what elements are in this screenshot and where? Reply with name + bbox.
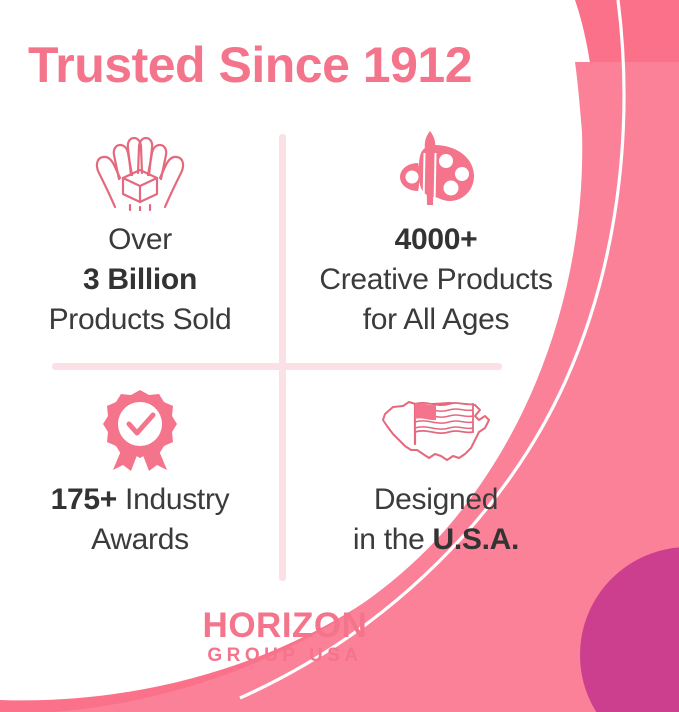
flag-canton — [415, 403, 436, 420]
logo-sub-text: GROUP USA — [0, 643, 570, 669]
magenta-circle — [580, 547, 679, 712]
feature-designed-usa-text: Designed in the U.S.A. — [353, 480, 519, 560]
brand-logo: HORIZON GROUP USA — [0, 608, 570, 669]
feature-products-sold-text: Over 3 Billion Products Sold — [49, 220, 232, 340]
paintbrush-shape — [426, 153, 434, 205]
divider-horizontal — [52, 363, 502, 370]
feature-line-2: Awards — [51, 520, 230, 560]
page-title: Trusted Since 1912 — [28, 36, 472, 94]
white-accent-line — [240, 0, 624, 698]
feature-line-2-rest: in the — [353, 523, 433, 556]
feature-creative-products-text: 4000+ Creative Products for All Ages — [319, 220, 552, 340]
feature-line-1: 175+ Industry — [51, 480, 230, 520]
feature-line-3: for All Ages — [319, 300, 552, 340]
feature-line-2: Creative Products — [319, 260, 552, 300]
feature-line-1-rest: Industry — [117, 483, 229, 516]
divider-vertical — [279, 134, 286, 581]
feature-designed-usa: Designed in the U.S.A. — [286, 388, 586, 560]
feature-line-3: Products Sold — [49, 300, 232, 340]
paint-palette-brush-icon — [388, 128, 484, 214]
usa-map-flag-icon — [375, 388, 497, 474]
feature-industry-awards-text: 175+ Industry Awards — [51, 480, 230, 560]
feature-line-2: in the U.S.A. — [353, 520, 519, 560]
feature-line-1: 4000+ — [319, 220, 552, 260]
award-ribbon-check-icon — [99, 388, 181, 474]
feature-industry-awards: 175+ Industry Awards — [0, 388, 280, 560]
feature-line-2-bold: U.S.A. — [433, 523, 520, 556]
feature-creative-products: 4000+ Creative Products for All Ages — [286, 128, 586, 340]
feature-products-sold: Over 3 Billion Products Sold — [0, 128, 280, 340]
feature-line-1: Designed — [353, 480, 519, 520]
hands-holding-box-icon — [87, 128, 193, 214]
feature-line-1: Over — [49, 220, 232, 260]
logo-main-text: HORIZON — [0, 608, 570, 643]
feature-line-1-bold: 175+ — [51, 483, 117, 516]
infographic-poster: Trusted Since 1912 — [0, 0, 679, 712]
feature-line-2: 3 Billion — [49, 260, 232, 300]
